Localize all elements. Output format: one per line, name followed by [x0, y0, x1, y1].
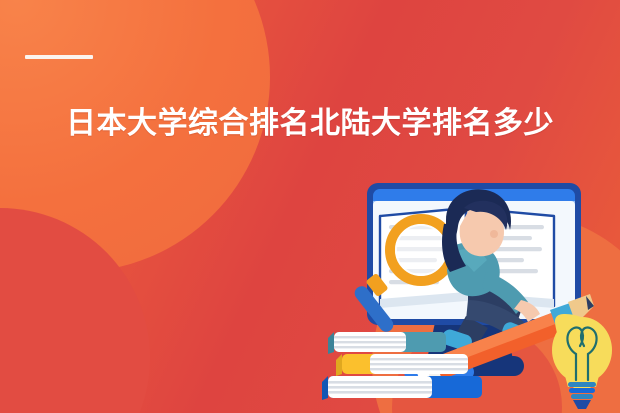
book-top — [328, 332, 446, 354]
book-middle — [336, 354, 468, 376]
light-bulb-icon — [552, 314, 612, 409]
title-accent-rule — [25, 55, 93, 59]
page-title: 日本大学综合排名北陆大学排名多少 — [0, 105, 620, 143]
bulb-base — [568, 382, 596, 409]
student-research-illustration — [318, 168, 620, 413]
book-bottom — [322, 376, 482, 400]
poster-banner: 日本大学综合排名北陆大学排名多少 — [0, 0, 620, 413]
